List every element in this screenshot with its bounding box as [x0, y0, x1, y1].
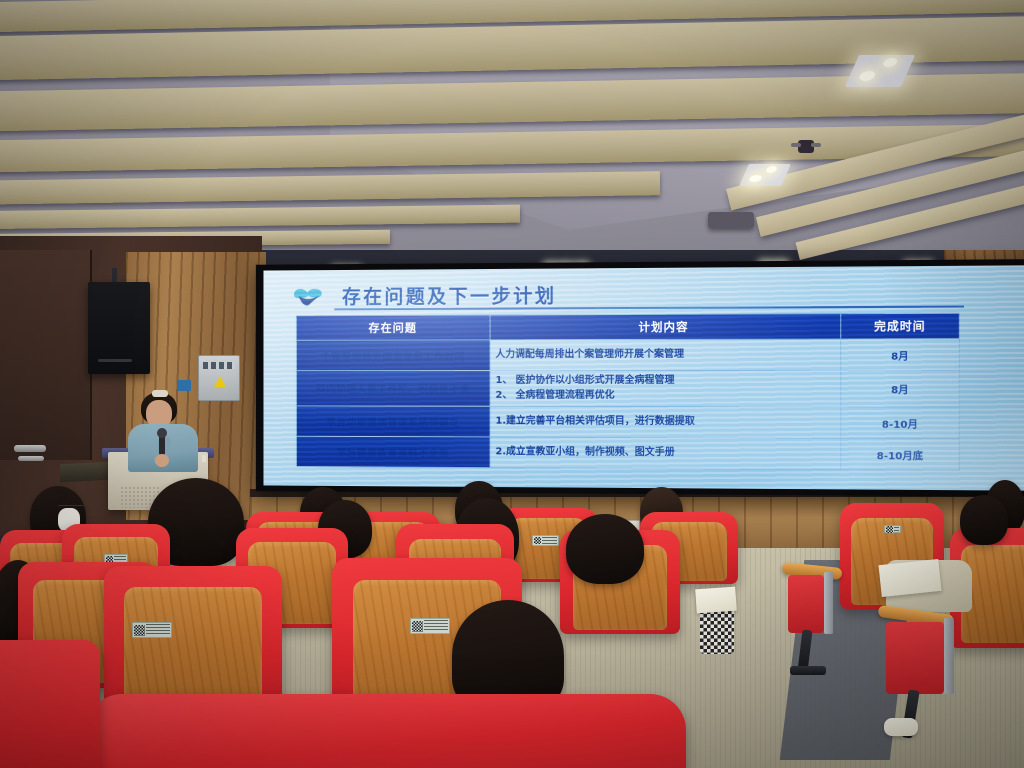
cell-issue: 平台健康教育资料不全面 [296, 436, 490, 467]
seat-side-panel [886, 622, 944, 694]
audience-notepad[interactable] [695, 587, 737, 614]
cell-plan: 2.成立宣教亚小组，制作视频、图文手册 [490, 437, 841, 470]
electrical-panel [198, 355, 240, 401]
door-handle [14, 445, 46, 452]
presenter [126, 392, 200, 470]
cell-time: 8月 [841, 339, 960, 371]
cell-plan: 人力调配每周排出个案管理师开展个案管理 [490, 339, 841, 371]
slide-title: 存在问题及下一步计划 [342, 279, 557, 309]
seat-asset-tag [132, 622, 172, 638]
table-row: 平台功能慢病管理系统待建立 1.建立完善平台相关评估项目，进行数据提取 8-10… [296, 406, 959, 439]
cell-issue: 平台功能慢病管理系统待建立 [296, 406, 490, 437]
led-screen: 存在问题及下一步计划 存在问题 计划内容 完成时间 个案管理师 [256, 259, 1024, 497]
breaker-switches [203, 362, 235, 369]
cell-time: 8月 [841, 370, 960, 407]
auditorium-seat[interactable] [86, 694, 686, 768]
audience-glasses [58, 505, 84, 510]
seat-asset-tag [410, 618, 450, 634]
seat-metal-bracket [944, 618, 954, 694]
warning-triangle-icon [214, 376, 226, 387]
seat-asset-tag [884, 525, 901, 533]
ceiling-slat [0, 205, 520, 230]
audience-shoe [884, 718, 918, 736]
seat-side-panel [788, 575, 824, 633]
table-row: 科内护理人员工作忙，积极性不高 1、 医护协作以小组形式开展全病程管理2、 全病… [296, 370, 959, 407]
table-header-row: 存在问题 计划内容 完成时间 [296, 313, 959, 340]
ceiling-projector [708, 212, 754, 228]
slide-header: 存在问题及下一步计划 [277, 278, 1016, 314]
cell-time: 8-10月 [841, 407, 960, 439]
conference-room-photo: 存在问题及下一步计划 存在问题 计划内容 完成时间 个案管理师 [0, 0, 1024, 768]
seat-back-cushion [86, 694, 686, 768]
door-handle [18, 456, 44, 461]
cell-plan: 1.建立完善平台相关评估项目，进行数据提取 [490, 406, 841, 438]
wall-speaker [88, 282, 150, 374]
table-row: 平台健康教育资料不全面 2.成立宣教亚小组，制作视频、图文手册 8-10月底 [296, 436, 959, 470]
handout-paper[interactable] [878, 559, 941, 597]
cell-plan: 1、 医护协作以小组形式开展全病程管理2、 全病程管理流程再优化 [490, 370, 841, 406]
col-header-plan: 计划内容 [490, 314, 841, 340]
seat-asset-tag [532, 535, 559, 546]
wall-control-panel [177, 380, 191, 391]
plan-table: 存在问题 计划内容 完成时间 个案管理师无固定专职工作时间 人力调配每周排出个案… [296, 313, 960, 471]
audience-head [566, 514, 644, 584]
seat-metal-bracket [824, 572, 833, 634]
cell-issue: 科内护理人员工作忙，积极性不高 [296, 371, 490, 407]
seat-foot [790, 666, 826, 675]
audience-head [960, 495, 1008, 545]
presenter-hand [155, 454, 169, 467]
table-row: 个案管理师无固定专职工作时间 人力调配每周排出个案管理师开展个案管理 8月 [296, 339, 959, 371]
auditorium-seat[interactable] [0, 640, 100, 768]
col-header-time: 完成时间 [841, 313, 960, 339]
presenter-hair-clip [152, 390, 168, 397]
butterfly-logo [292, 285, 325, 309]
microphone [159, 434, 165, 456]
ceiling [0, 0, 1024, 250]
wall-left-panel [0, 250, 92, 460]
col-header-issue: 存在问题 [296, 315, 490, 340]
cell-issue: 个案管理师无固定专职工作时间 [296, 340, 490, 371]
security-camera-icon [798, 140, 814, 153]
screen-surface: 存在问题及下一步计划 存在问题 计划内容 完成时间 个案管理师 [263, 265, 1024, 490]
cell-time: 8-10月底 [841, 438, 960, 470]
seat-back-cushion [0, 640, 100, 768]
presentation-slide: 存在问题及下一步计划 存在问题 计划内容 完成时间 个案管理师 [263, 265, 1024, 490]
